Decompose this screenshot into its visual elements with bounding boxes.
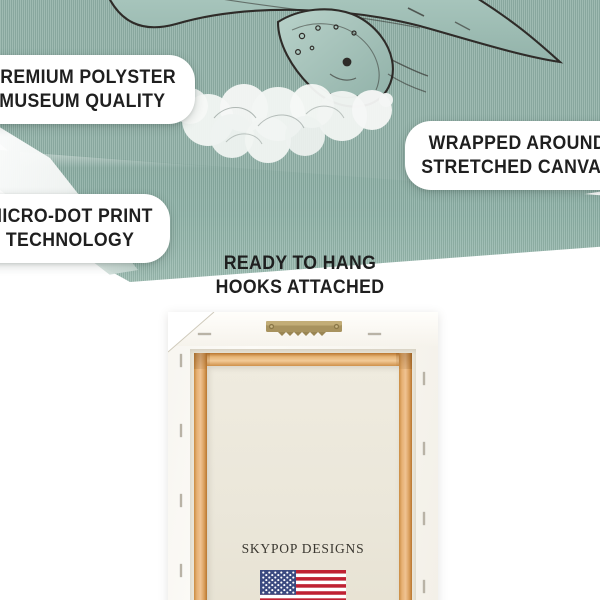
staple xyxy=(423,512,425,525)
staple xyxy=(423,580,425,593)
product-infographic: PREMIUM POLYSTER MUSEUM QUALITY WRAPPED … xyxy=(0,0,600,600)
canvas-back-photo: SKYPOP DESIGNS xyxy=(168,312,438,600)
note-line-2: HOOKS ATTACHED xyxy=(151,276,449,300)
badge-line-2: MUSEUM QUALITY xyxy=(0,90,166,114)
staple xyxy=(180,564,182,577)
stretcher-bar-top xyxy=(194,353,412,366)
staple xyxy=(198,333,211,335)
stretcher-bar-right xyxy=(399,353,412,600)
us-flag-icon xyxy=(260,570,346,600)
sawtooth-hanger-icon xyxy=(266,319,342,337)
staple xyxy=(423,442,425,455)
canvas-back-panel: SKYPOP DESIGNS xyxy=(207,366,399,600)
cloud-puff-small xyxy=(379,93,393,107)
badge-line-2: STRETCHED CANVAS xyxy=(421,156,600,180)
staple xyxy=(368,333,381,335)
feature-badge-wrapped-canvas: WRAPPED AROUND STRETCHED CANVAS xyxy=(405,121,600,190)
cloud-spout xyxy=(172,84,393,163)
feature-note-ready-to-hang: READY TO HANG HOOKS ATTACHED xyxy=(140,252,460,301)
brand-name: SKYPOP DESIGNS xyxy=(207,541,399,557)
staple xyxy=(180,424,182,437)
staple xyxy=(180,494,182,507)
badge-line-2: TECHNOLOGY xyxy=(6,229,134,253)
badge-line-1: PREMIUM POLYSTER xyxy=(0,66,176,90)
feature-badge-premium-polyster: PREMIUM POLYSTER MUSEUM QUALITY xyxy=(0,55,195,124)
corner-fold-line xyxy=(168,312,220,354)
staple xyxy=(423,372,425,385)
note-line-1: READY TO HANG xyxy=(151,252,449,276)
badge-line-1: MICRO-DOT PRINT xyxy=(0,205,153,229)
staple xyxy=(180,354,182,367)
badge-line-1: WRAPPED AROUND xyxy=(429,132,600,156)
whale-eye xyxy=(343,58,352,67)
stretcher-bar-left xyxy=(194,353,207,600)
